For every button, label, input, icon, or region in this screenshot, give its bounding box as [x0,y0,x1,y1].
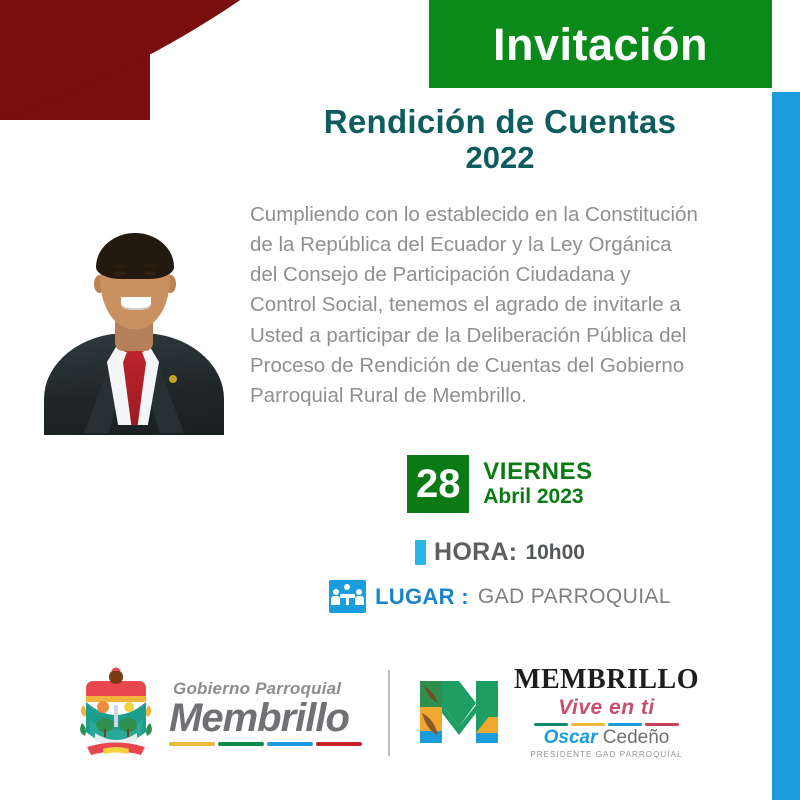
event-time-row: HORA: 10h00 [250,538,750,567]
body-line-5: Usted a participar de la Deliberación Pú… [250,321,752,351]
body-line-5-text: Usted a participar de la Deliberación Pú… [250,321,686,351]
place-label: LUGAR : [375,584,469,610]
date-day-number: 28 [416,464,461,504]
title-line-1: Rendición de Cuentas [250,104,750,141]
right-logo-name: MEMBRILLO [514,666,699,694]
title-line-2: 2022 [250,141,750,176]
body-line-6-text: Proceso de Rendición de Cuentas del Gobi… [250,351,684,381]
president-first-name: Oscar [544,727,598,748]
portrait-eyebrow-left [112,264,128,268]
time-label: HORA: [434,538,517,567]
body-line-7: Parroquial Rural de Membrillo. [250,381,752,411]
meeting-person-right-body [355,596,364,605]
body-line-1: Cumpliendo con lo establecido en la Cons… [250,200,752,230]
body-line-6: Proceso de Rendición de Cuentas del Gobi… [250,351,752,381]
date-day-box: 28 [407,455,469,513]
portrait-hair [96,233,174,279]
time-value: 10h00 [525,541,585,565]
color-bar-red [316,742,362,746]
left-logo-color-bar [169,742,362,746]
meeting-person-left-head [333,589,339,595]
date-month-year: Abril 2023 [483,485,593,509]
president-portrait-photo [26,205,241,435]
page-title: Rendición de Cuentas 2022 [250,104,750,176]
right-blue-stripe [772,92,800,800]
portrait-eyebrow-right [142,264,158,268]
invitation-body-text: Cumpliendo con lo establecido en la Cons… [250,200,752,411]
portrait-figure [26,205,241,435]
right-logo-slogan: Vive en ti [558,695,654,720]
coat-of-arms-icon [73,665,159,761]
right-color-bar-blue [608,723,642,726]
portrait-eye-left [114,271,126,276]
right-color-bar-pink [645,723,679,726]
gobierno-parroquial-logo: Gobierno Parroquial Membrillo [73,665,388,761]
meeting-table-leg [346,598,349,605]
color-bar-blue [267,742,313,746]
event-date-block: 28 VIERNES Abril 2023 [250,455,750,513]
body-line-3-text: del Consejo de Participación Ciudadana y [250,260,631,290]
date-text-group: VIERNES Abril 2023 [483,459,593,508]
invitation-banner: Invitación [429,0,772,88]
color-bar-yellow [169,742,215,746]
date-weekday: VIERNES [483,459,593,484]
meeting-table-icon [329,580,366,613]
place-value: GAD PARROQUIAL [478,585,671,609]
banner-title: Invitación [493,22,708,67]
body-line-2: de la República del Ecuador y la Ley Org… [250,230,752,260]
body-line-2-text: de la República del Ecuador y la Ley Org… [250,230,672,260]
color-bar-green [218,742,264,746]
president-last-name: Cedeño [598,727,670,748]
body-line-1-text: Cumpliendo con lo establecido en la Cons… [250,200,698,230]
meeting-person-right-head [356,589,362,595]
clock-bar-icon [415,540,426,565]
president-title: PRESIDENTE GAD PARROQUIAL [530,750,682,759]
m-monogram-icon [416,669,502,755]
meeting-person-top [344,584,350,590]
portrait-lapel-pin [169,375,177,383]
event-place-row: LUGAR : GAD PARROQUIAL [250,580,750,613]
president-name: Oscar Cedeño [544,728,670,749]
left-logo-name: Membrillo [169,699,362,738]
invitation-card: Invitación Rendición de Cuentas 2022 [0,0,800,800]
right-logo-wordmark: MEMBRILLO Vive en ti Oscar Cedeño PRESID… [514,666,699,759]
portrait-smile [121,297,151,310]
body-line-3: del Consejo de Participación Ciudadana y [250,260,752,290]
right-color-bar-green [534,723,568,726]
body-line-4-text: Control Social, tenemos el agrado de inv… [250,290,681,320]
left-logo-wordmark: Gobierno Parroquial Membrillo [169,679,362,745]
meeting-person-left-body [331,596,340,605]
membrillo-vive-en-ti-logo: MEMBRILLO Vive en ti Oscar Cedeño PRESID… [390,666,699,759]
body-line-4: Control Social, tenemos el agrado de inv… [250,290,752,320]
right-color-bar-yellow [571,723,605,726]
portrait-eye-right [144,271,156,276]
right-logo-color-bar [534,723,679,726]
footer-logos: Gobierno Parroquial Membrillo [0,650,772,775]
